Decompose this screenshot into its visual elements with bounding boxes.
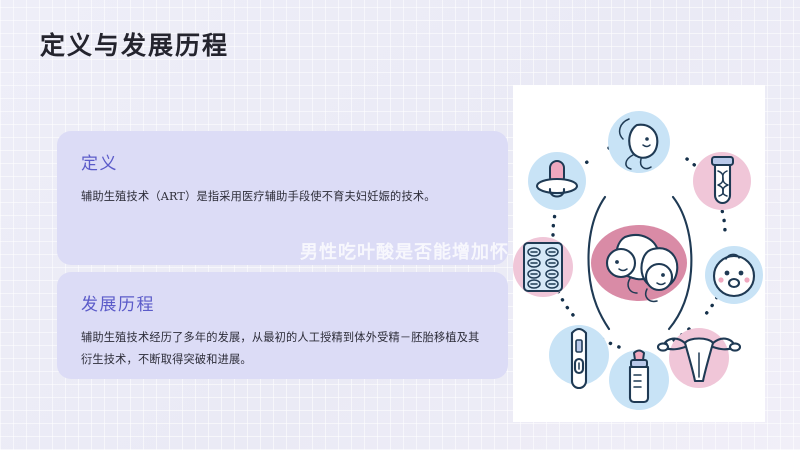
baby-bottle-node <box>609 350 669 410</box>
definition-card: 定义 辅助生殖技术（ART）是指采用医疗辅助手段使不育夫妇妊娠的技术。 <box>57 131 508 265</box>
page-title: 定义与发展历程 <box>40 26 229 62</box>
baby-face-node <box>705 246 763 304</box>
dna-test-tube-icon <box>712 157 733 203</box>
pregnancy-test-icon <box>572 329 586 388</box>
fetus-node <box>608 111 670 173</box>
dna-test-tube-node <box>693 152 751 210</box>
uterus-node <box>658 328 740 388</box>
history-card-body: 辅助生殖技术经历了多年的发展，从最初的人工授精到体外受精－胚胎移植及其衍生技术，… <box>81 327 484 371</box>
pill-blister-icon <box>524 243 562 291</box>
womb-twins-center <box>589 197 692 329</box>
fertility-cycle-illustration: .ln { fill:none; stroke:#1f3a54; stroke-… <box>513 85 765 422</box>
pill-blister-node <box>513 237 573 297</box>
history-card: 发展历程 辅助生殖技术经历了多年的发展，从最初的人工授精到体外受精－胚胎移植及其… <box>57 272 508 379</box>
history-card-heading: 发展历程 <box>81 290 484 315</box>
definition-card-heading: 定义 <box>81 149 484 174</box>
illustration-panel: .ln { fill:none; stroke:#1f3a54; stroke-… <box>513 85 765 422</box>
definition-card-body: 辅助生殖技术（ART）是指采用医疗辅助手段使不育夫妇妊娠的技术。 <box>81 186 484 208</box>
baby-face-icon <box>714 254 754 296</box>
slide-root: 定义与发展历程 定义 辅助生殖技术（ART）是指采用医疗辅助手段使不育夫妇妊娠的… <box>0 0 800 450</box>
pregnancy-test-node <box>549 325 609 388</box>
pacifier-node <box>528 152 586 210</box>
